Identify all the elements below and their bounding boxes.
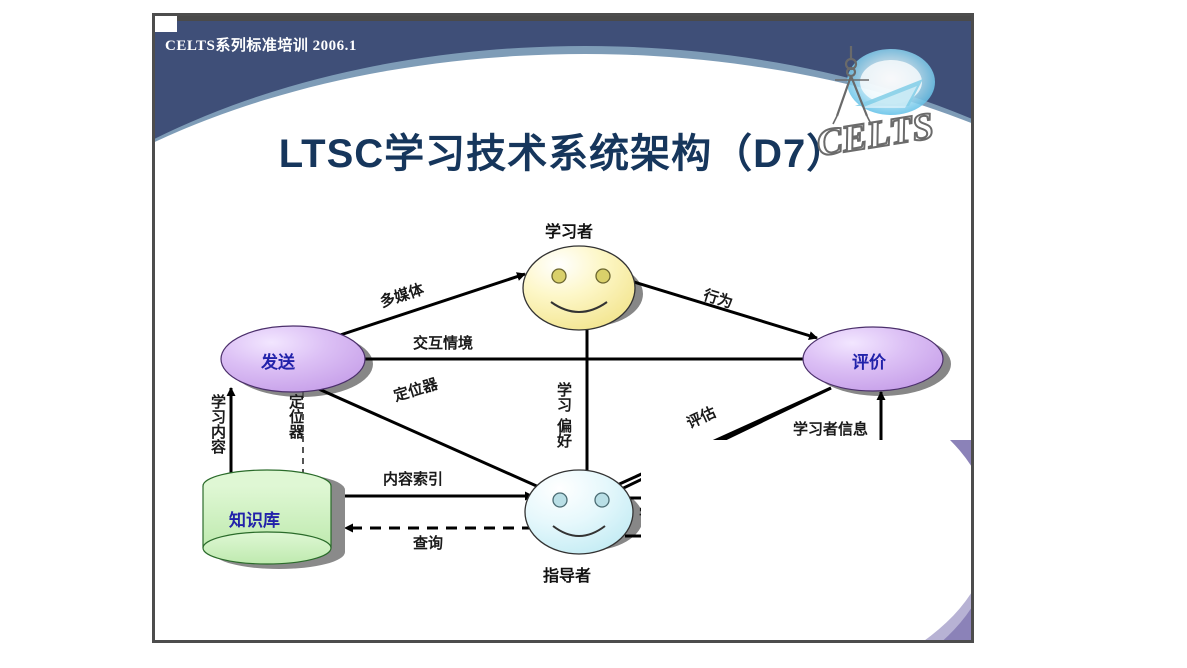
header-top-rule xyxy=(155,16,971,21)
node-label-knowledge: 知识库 xyxy=(229,506,280,531)
node-label-learner: 学习者 xyxy=(545,218,593,242)
slide-canvas: CELTS系列标准培训 2006.1 LTSC学习技术系统架构（D7） xyxy=(152,13,974,643)
corner-white-arc xyxy=(641,440,971,640)
slide-corner-decoration xyxy=(641,440,971,640)
edge-label-interaction-context: 交互情境 xyxy=(413,332,473,353)
node-learner xyxy=(523,246,635,330)
edge-label-learning-pref-2: 偏好 xyxy=(553,418,574,448)
edge-label-learner-info-current-1: 学习者信息 xyxy=(793,418,868,439)
logo-wordmark: CELTS xyxy=(814,105,937,165)
edge-label-learning-pref-1: 学习 xyxy=(553,382,574,412)
header-course-label: CELTS系列标准培训 2006.1 xyxy=(165,34,357,55)
edge-label-locator-vertical: 定位器 xyxy=(285,394,306,439)
svg-text:CELTS: CELTS xyxy=(814,105,937,165)
page-number: 7 xyxy=(897,579,905,596)
edge-label-query: 查询 xyxy=(413,532,443,553)
logo-swoosh-icon xyxy=(847,49,935,115)
edge-label-learning-content: 学习内容 xyxy=(207,394,228,454)
celts-logo: CELTS xyxy=(813,24,953,174)
node-label-send: 发送 xyxy=(261,348,295,373)
node-coach xyxy=(525,470,633,554)
header-corner-notch xyxy=(155,16,177,32)
node-label-coach: 指导者 xyxy=(543,562,591,586)
edge-label-content-index: 内容索引 xyxy=(383,468,443,489)
node-label-evaluate: 评价 xyxy=(852,348,886,373)
